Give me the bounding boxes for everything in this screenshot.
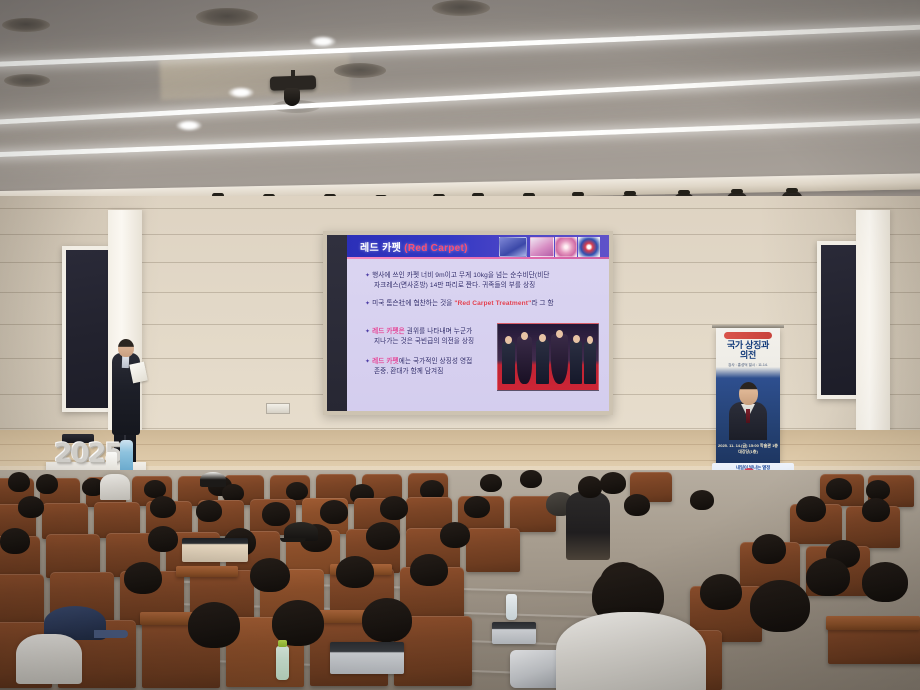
downlight-icon [334, 63, 386, 78]
audience-head [8, 472, 30, 492]
hooded-person [16, 634, 82, 684]
presenter-head [118, 339, 134, 357]
bullet-text: 지나가는 것은 국빈급의 의전을 상징 [374, 338, 474, 345]
banner-title-line2: 의전 [740, 350, 756, 360]
auditorium-photo: 레드 카펫 (Red Carpet) ✦ 행사에 쓰인 카펫 너비 9m이고 무… [0, 0, 920, 690]
downlight-icon [432, 0, 490, 16]
banner-title-line1: 국가 상징과 [727, 340, 769, 350]
bullet-text: 자크레스(면사혼방) 14만 파리로 짠다. 귀족들의 부를 상징 [374, 282, 535, 289]
bullet-highlight: 레드 카펫 [372, 358, 399, 365]
seal-icon [555, 237, 577, 257]
presentation-slide: 레드 카펫 (Red Carpet) ✦ 행사에 쓰인 카펫 너비 9m이고 무… [347, 235, 609, 411]
bullet-highlight: 레드 카펫은 [372, 328, 405, 335]
slide-title-english: (Red Carpet) [404, 243, 468, 254]
banner-footer: 2025. 11. 14.(금) 15:00 학술관 1층 대강당(1층) [716, 443, 780, 455]
audience-head [862, 562, 908, 602]
hooded-person-foreground [556, 612, 706, 690]
standing-person-head [578, 476, 602, 498]
wall-control-panel[interactable] [266, 403, 290, 414]
downlight-icon [2, 18, 50, 32]
slide-bullet-3-line1: ✦ 레드 카펫은 권위를 나타내며 누군가 [365, 327, 472, 337]
audience-head [0, 528, 30, 554]
downlight-icon [4, 74, 50, 87]
audience-head [862, 498, 890, 522]
led-strip [0, 70, 920, 125]
audience-head [752, 534, 786, 564]
bullet-text: 에는 국가적인 상징성 영접 [399, 358, 473, 365]
bullet-text: 권위를 나타내며 누군가 [405, 328, 472, 335]
bullet-text: 미국 톰슨社에 협찬하는 것을 [372, 300, 454, 307]
projector-lens-icon [284, 88, 300, 106]
audience-head [624, 494, 650, 516]
audience-head [18, 496, 44, 518]
audience-head [464, 496, 490, 518]
audience-head [188, 602, 240, 648]
slide-title-korean: 레드 카펫 [360, 243, 401, 254]
banner-tag [724, 332, 772, 339]
slide-bullet-4-line1: ✦ 레드 카펫에는 국가적인 상징성 영접 [365, 357, 472, 367]
seat[interactable] [0, 574, 44, 628]
bullet-highlight: "Red Carpet Treatment" [454, 300, 531, 307]
slide-title: 레드 카펫 (Red Carpet) [360, 239, 468, 254]
audience-head [262, 502, 290, 526]
slide-bullet-4-line2: 존중, 환대가 함께 담겨짐 [374, 367, 443, 376]
audience-head [866, 480, 890, 500]
flag-icon [578, 237, 600, 257]
laptop-icon[interactable] [182, 538, 248, 562]
audience-head [700, 574, 742, 610]
audience-head [826, 478, 852, 500]
audience-head [366, 522, 400, 550]
bullet-text: 존중, 환대가 함께 담겨짐 [374, 368, 443, 375]
audience-head [380, 496, 408, 520]
light-glow [228, 87, 254, 98]
cap-brim-icon [280, 538, 306, 542]
bullet-marker-icon: ✦ [365, 329, 370, 335]
audience-head [410, 554, 448, 586]
audience-head [36, 474, 58, 494]
banner-title: 국가 상징과 의전 [716, 340, 780, 360]
tablet-icon[interactable] [492, 622, 536, 644]
red-carpet-photo [497, 323, 599, 391]
bullet-text: 라 그 함 [531, 300, 553, 307]
ceiling [0, 0, 920, 190]
audience-head [124, 562, 162, 594]
water-bottle[interactable] [276, 646, 289, 680]
audience-head [196, 500, 222, 522]
hooded-person [100, 474, 130, 500]
banner-portrait [726, 380, 770, 440]
audience-head [148, 526, 178, 552]
audience-head [600, 472, 626, 494]
audience-head-foreground [750, 580, 810, 632]
downlight-icon [196, 8, 258, 26]
audience-area [0, 470, 920, 690]
flower-icon [530, 237, 554, 257]
seat[interactable] [466, 528, 520, 572]
audience-head [690, 490, 714, 510]
laptop-icon[interactable] [330, 642, 404, 674]
screen-border [327, 235, 347, 411]
slide-bullet-1-line1: ✦ 행사에 쓰인 카펫 너비 9m이고 무게 10kg을 넘는 순수비단(비단 [365, 271, 550, 281]
presenter-shirt [122, 356, 129, 368]
thumbnail-icon-1 [499, 237, 527, 257]
slide-header-underline [347, 257, 609, 259]
audience-head [480, 474, 502, 492]
audience-head [796, 496, 826, 522]
slide-bullet-3-line2: 지나가는 것은 국빈급의 의전을 상징 [374, 337, 474, 346]
bullet-marker-icon: ✦ [365, 273, 370, 279]
audience-head [806, 558, 850, 596]
light-glow [310, 36, 336, 47]
bottle-cap-icon [278, 640, 287, 647]
standing-person [566, 492, 610, 560]
slide-bullet-2: ✦ 미국 톰슨社에 협찬하는 것을 "Red Carpet Treatment"… [365, 299, 554, 309]
folding-desk[interactable] [176, 566, 238, 577]
audience-head [250, 558, 290, 592]
white-cap-icon [200, 472, 226, 487]
backpack [510, 650, 562, 688]
event-banner: 국가 상징과 의전 강사 : 홍성덕 일시 : 11.14. 2025. 11.… [716, 328, 780, 467]
audience-head [150, 496, 176, 518]
light-glow [176, 120, 202, 131]
bullet-text: 행사에 쓰인 카펫 너비 9m이고 무게 10kg을 넘는 순수비단(비단 [372, 272, 549, 279]
slide-bullet-1-line2: 자크레스(면사혼방) 14만 파리로 짠다. 귀족들의 부를 상징 [374, 281, 535, 290]
cap-brim-icon [94, 630, 128, 638]
bullet-marker-icon: ✦ [365, 301, 370, 307]
led-strip [0, 118, 920, 158]
audience-head [362, 598, 412, 642]
led-strip [0, 24, 920, 67]
audience-head [440, 522, 470, 548]
audience-head [336, 556, 374, 588]
audience-head [320, 500, 348, 524]
bullet-marker-icon: ✦ [365, 359, 370, 365]
folding-desk[interactable] [826, 616, 920, 630]
water-bottle[interactable] [506, 594, 517, 620]
banner-subtitle: 강사 : 홍성덕 일시 : 11.14. [716, 363, 780, 368]
audience-head [520, 470, 542, 488]
